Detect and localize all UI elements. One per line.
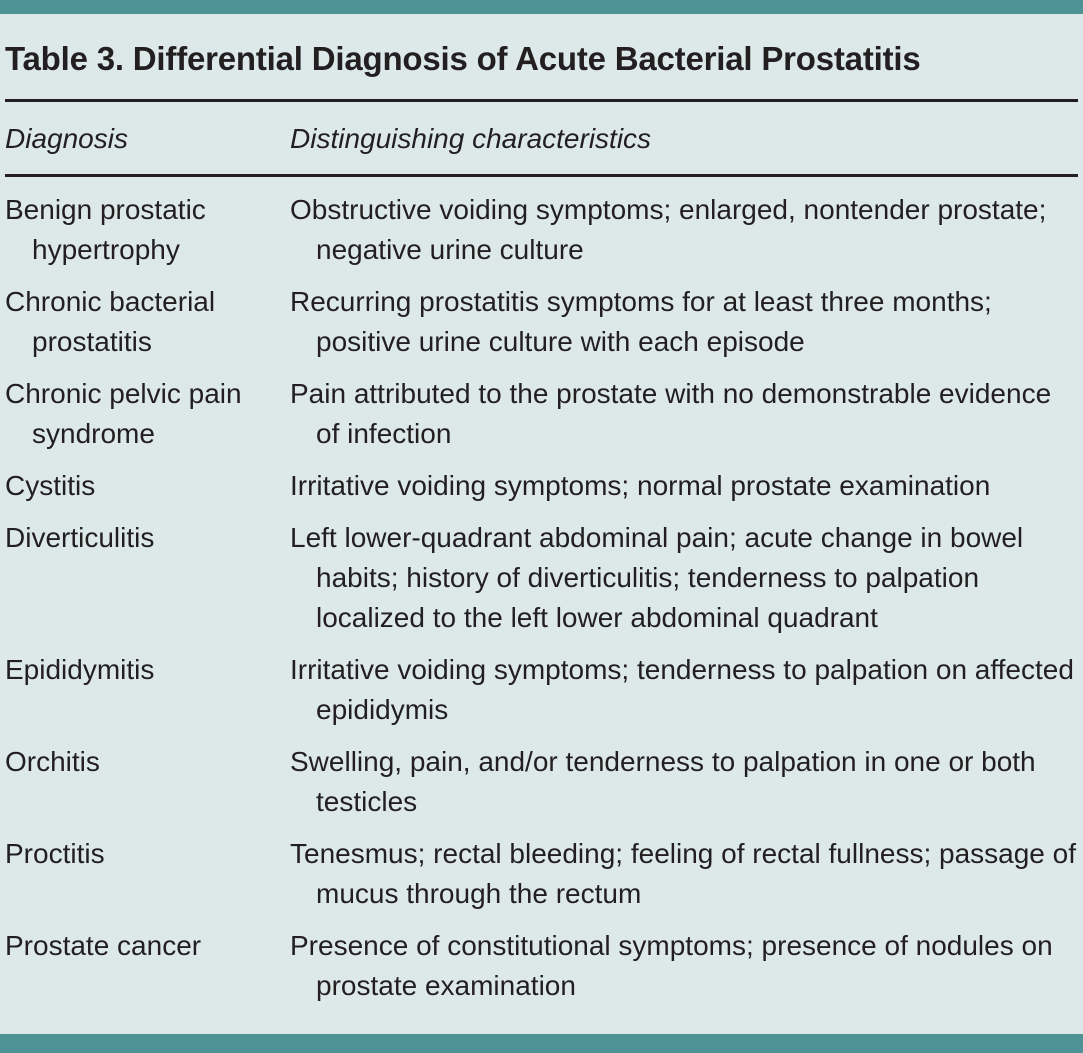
row-spacer <box>5 362 1078 374</box>
cell-characteristics: Tenesmus; rectal bleeding; feeling of re… <box>290 834 1078 914</box>
cell-characteristics: Irritative voiding symptoms; tenderness … <box>290 650 1078 730</box>
table-body: Benign prostatic hypertrophyObstructive … <box>5 177 1078 1006</box>
cell-characteristics: Swelling, pain, and/or tenderness to pal… <box>290 742 1078 822</box>
differential-diagnosis-table: Diagnosis Distinguishing characteristics <box>5 102 1078 174</box>
cell-diagnosis: Proctitis <box>5 834 290 914</box>
cell-diagnosis: Prostate cancer <box>5 926 290 1006</box>
row-spacer-cell <box>5 270 1078 282</box>
cell-characteristics: Left lower-quadrant abdominal pain; acut… <box>290 518 1078 638</box>
column-header-diagnosis: Diagnosis <box>5 102 290 174</box>
table-row: DiverticulitisLeft lower-quadrant abdomi… <box>5 518 1078 638</box>
row-spacer-cell <box>5 506 1078 518</box>
cell-characteristics: Irritative voiding symptoms; normal pros… <box>290 466 1078 506</box>
cell-diagnosis: Benign prostatic hypertrophy <box>5 177 290 270</box>
differential-diagnosis-body: Benign prostatic hypertrophyObstructive … <box>5 177 1078 1006</box>
table-row: Prostate cancerPresence of constitutiona… <box>5 926 1078 1006</box>
table-figure: Table 3. Differential Diagnosis of Acute… <box>0 0 1083 1053</box>
cell-characteristics: Obstructive voiding symptoms; enlarged, … <box>290 177 1078 270</box>
cell-diagnosis: Cystitis <box>5 466 290 506</box>
cell-diagnosis: Epididymitis <box>5 650 290 730</box>
page-title: Table 3. Differential Diagnosis of Acute… <box>5 41 1078 77</box>
row-spacer <box>5 730 1078 742</box>
row-spacer-cell <box>5 362 1078 374</box>
row-spacer-cell <box>5 914 1078 926</box>
cell-characteristics: Pain attributed to the prostate with no … <box>290 374 1078 454</box>
cell-diagnosis: Chronic pelvic pain syndrome <box>5 374 290 454</box>
row-spacer <box>5 506 1078 518</box>
row-spacer-cell <box>5 730 1078 742</box>
row-spacer-cell <box>5 454 1078 466</box>
table-content: Table 3. Differential Diagnosis of Acute… <box>0 14 1083 1006</box>
column-header-characteristics: Distinguishing characteristics <box>290 102 1078 174</box>
table-row: Chronic bacterial prostatitisRecurring p… <box>5 282 1078 362</box>
table-row: Benign prostatic hypertrophyObstructive … <box>5 177 1078 270</box>
row-spacer <box>5 454 1078 466</box>
cell-diagnosis: Orchitis <box>5 742 290 822</box>
table-header-row: Diagnosis Distinguishing characteristics <box>5 102 1078 174</box>
row-spacer <box>5 822 1078 834</box>
row-spacer <box>5 638 1078 650</box>
table-row: EpididymitisIrritative voiding symptoms;… <box>5 650 1078 730</box>
row-spacer-cell <box>5 822 1078 834</box>
table-header: Diagnosis Distinguishing characteristics <box>5 102 1078 174</box>
table-row: Chronic pelvic pain syndromePain attribu… <box>5 374 1078 454</box>
row-spacer <box>5 914 1078 926</box>
row-spacer-cell <box>5 638 1078 650</box>
cell-characteristics: Recurring prostatitis symptoms for at le… <box>290 282 1078 362</box>
top-accent-band <box>0 0 1083 14</box>
table-row: OrchitisSwelling, pain, and/or tendernes… <box>5 742 1078 822</box>
row-spacer <box>5 270 1078 282</box>
cell-characteristics: Presence of constitutional symptoms; pre… <box>290 926 1078 1006</box>
bottom-accent-band <box>0 1034 1083 1053</box>
table-row: CystitisIrritative voiding symptoms; nor… <box>5 466 1078 506</box>
cell-diagnosis: Diverticulitis <box>5 518 290 638</box>
table-row: ProctitisTenesmus; rectal bleeding; feel… <box>5 834 1078 914</box>
cell-diagnosis: Chronic bacterial prostatitis <box>5 282 290 362</box>
